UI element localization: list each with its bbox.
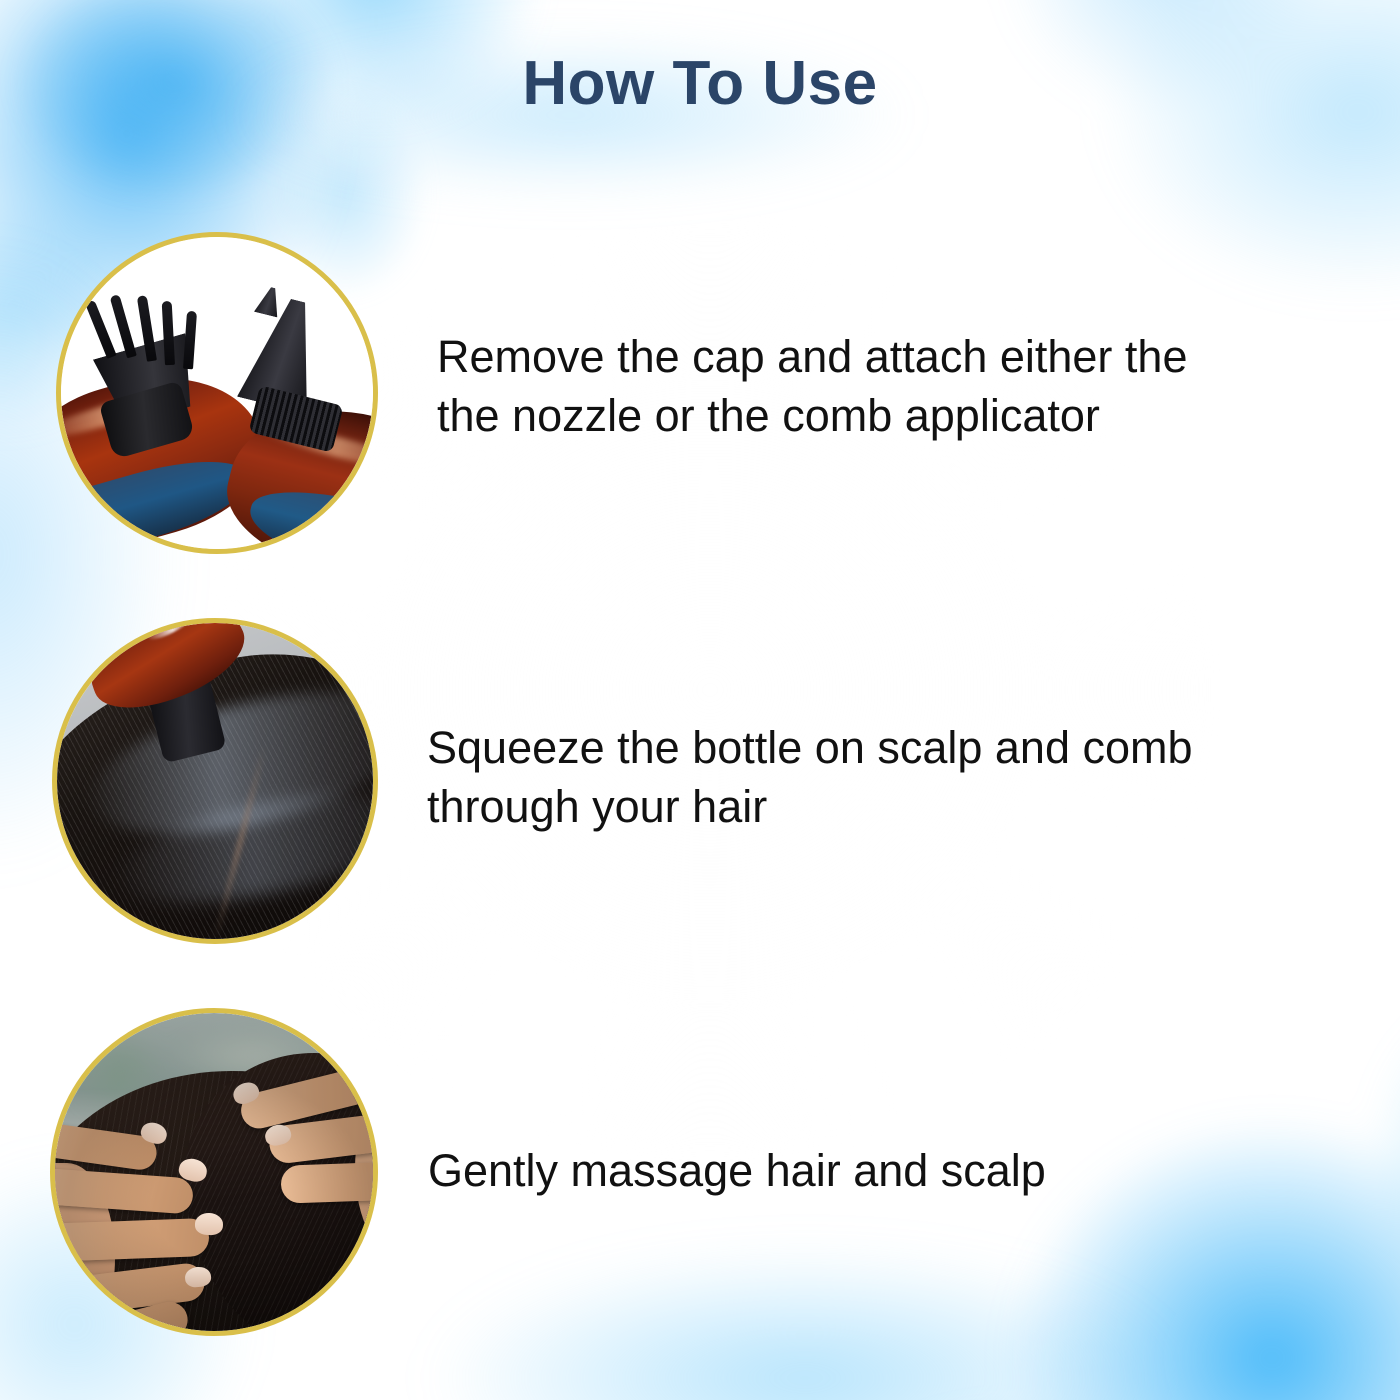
photo-canvas-3 [55,1013,373,1331]
photo-canvas-1 [61,237,373,549]
step-1-text: Remove the cap and attach either the the… [437,327,1297,446]
how-to-use-poster: How To Use [0,0,1400,1400]
hands-massaging-scalp-image [55,1013,373,1331]
photo-canvas-2 [57,623,373,939]
comb-tooth [162,301,175,365]
step-2-text: Squeeze the bottle on scalp and comb thr… [427,718,1307,837]
nozzle-applicator-tip [254,285,284,318]
step-2-image-circle [52,618,378,944]
step-1-image-circle [56,232,378,554]
vignette [55,1013,373,1331]
comb-tooth [85,299,117,358]
bottles-with-comb-and-nozzle-applicators-image [61,237,373,549]
bottle-applied-to-scalp-image [57,623,373,939]
step-3-image-circle [50,1008,378,1336]
comb-tooth [183,311,197,370]
step-3-text: Gently massage hair and scalp [428,1141,1308,1200]
page-title: How To Use [0,48,1400,119]
